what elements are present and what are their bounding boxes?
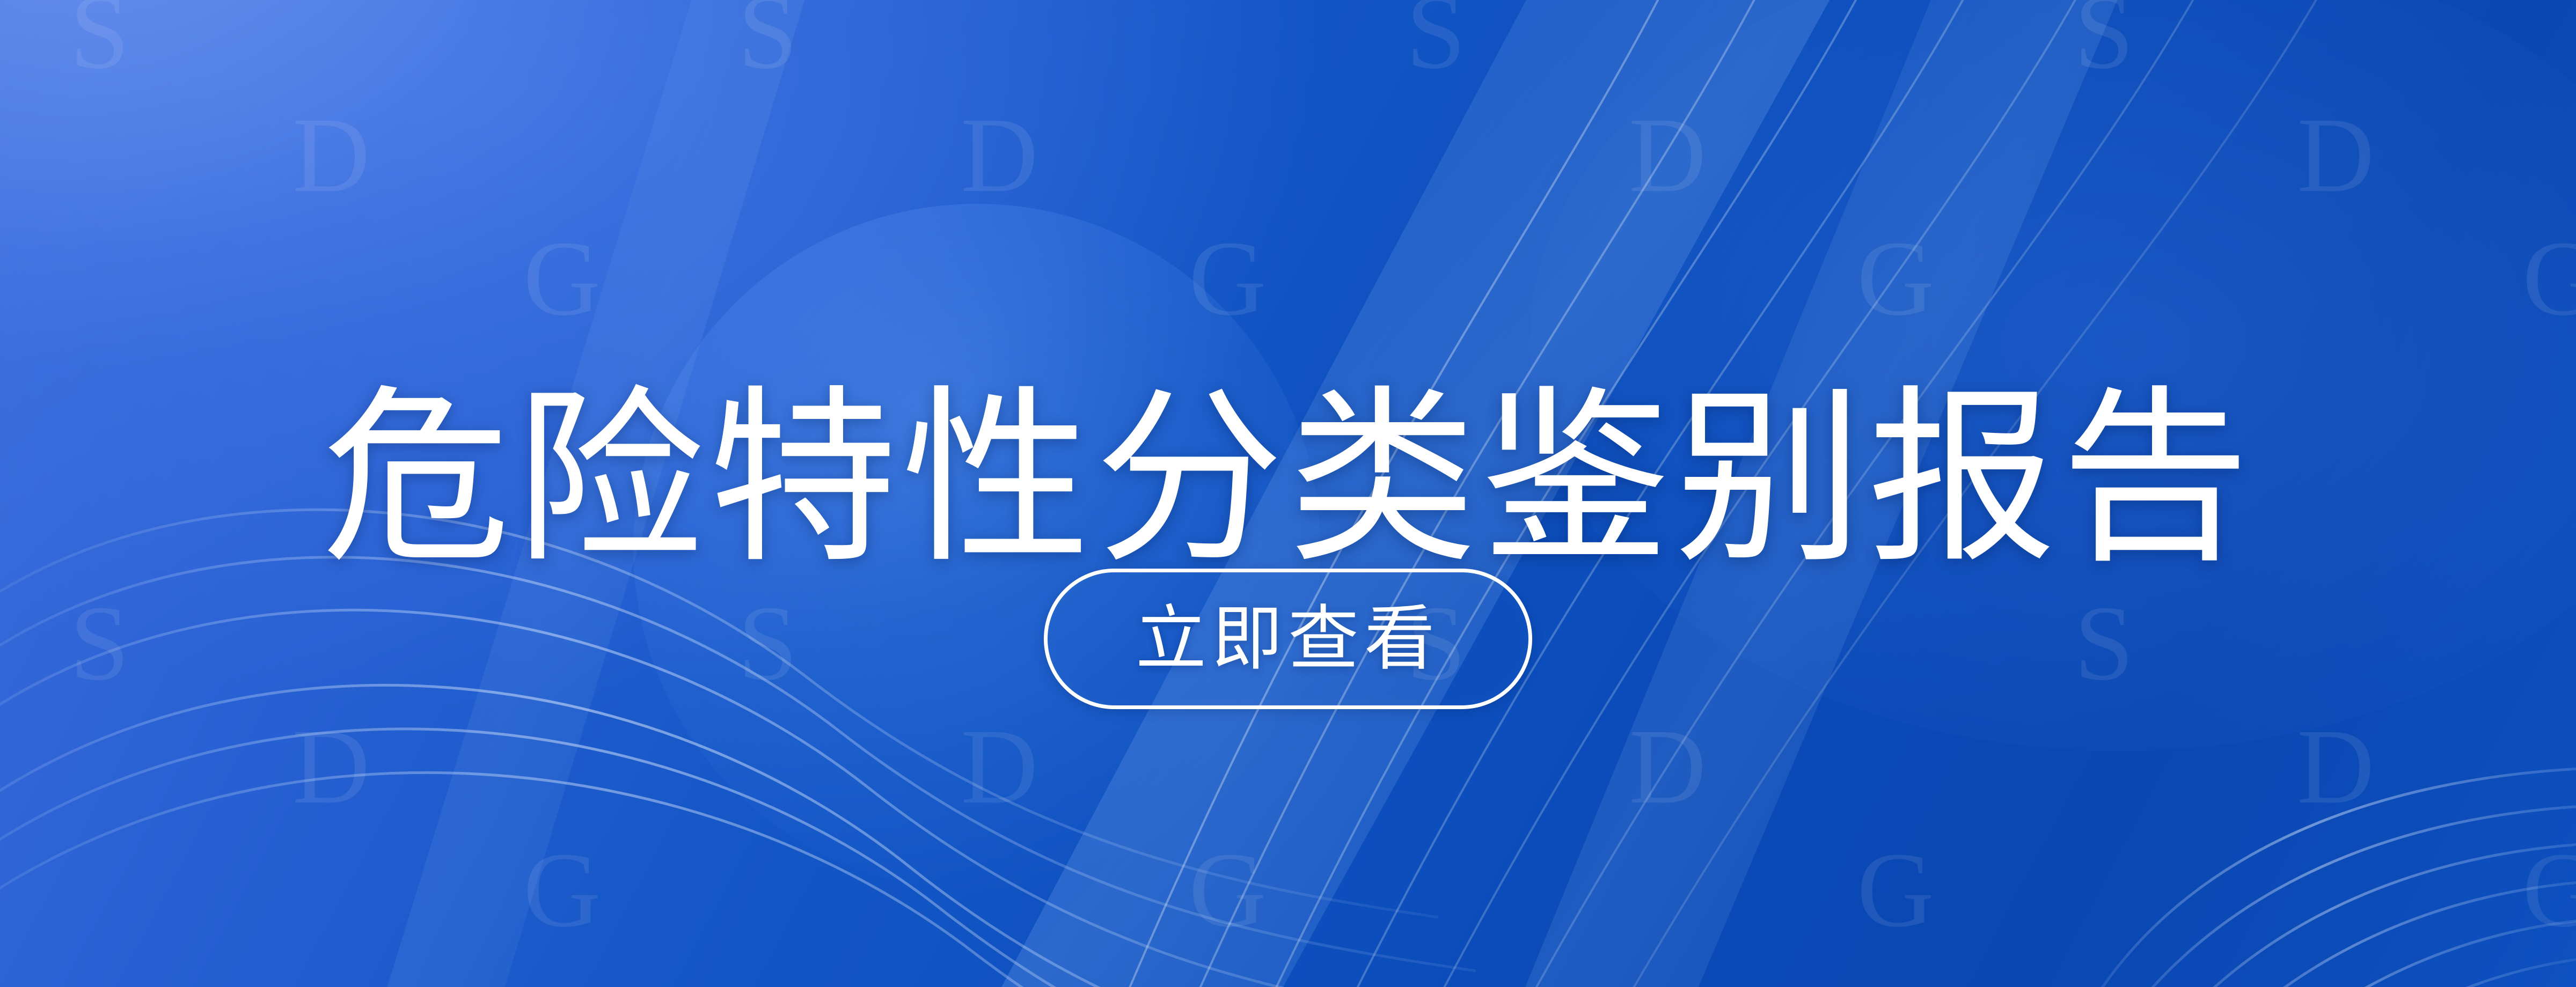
watermark-letter-g: G [1189,837,1266,944]
watermark-letter-s: S [2074,0,2134,86]
promo-banner: SDGSDGSDGSDGSDGSDGSDGSDG 危险特性分类鉴别报告 立即查看 [0,0,2576,987]
watermark-letter-s: S [70,0,129,86]
watermark-letter-d: D [292,713,370,821]
watermark-letter-s: S [738,0,797,86]
watermark-letter-d: D [1629,713,1706,821]
view-now-button[interactable]: 立即查看 [1044,569,1532,709]
view-now-button-label: 立即查看 [1136,603,1440,674]
watermark-letter-d: D [292,102,370,209]
page-title: 危险特性分类鉴别报告 [322,379,2254,579]
cta-block: 立即查看 [0,569,2576,709]
watermark-letter-d: D [1629,102,1706,209]
watermark-letter-g: G [523,837,601,944]
watermark-letter-d: D [2297,713,2374,821]
watermark-letter-d: D [961,713,1038,821]
watermark-letter-s: S [1406,0,1466,86]
watermark-letter-g: G [1857,837,1934,944]
watermark-letter-d: D [2297,102,2374,209]
watermark-letter-g: G [2522,837,2576,944]
watermark-letter-d: D [961,102,1038,209]
